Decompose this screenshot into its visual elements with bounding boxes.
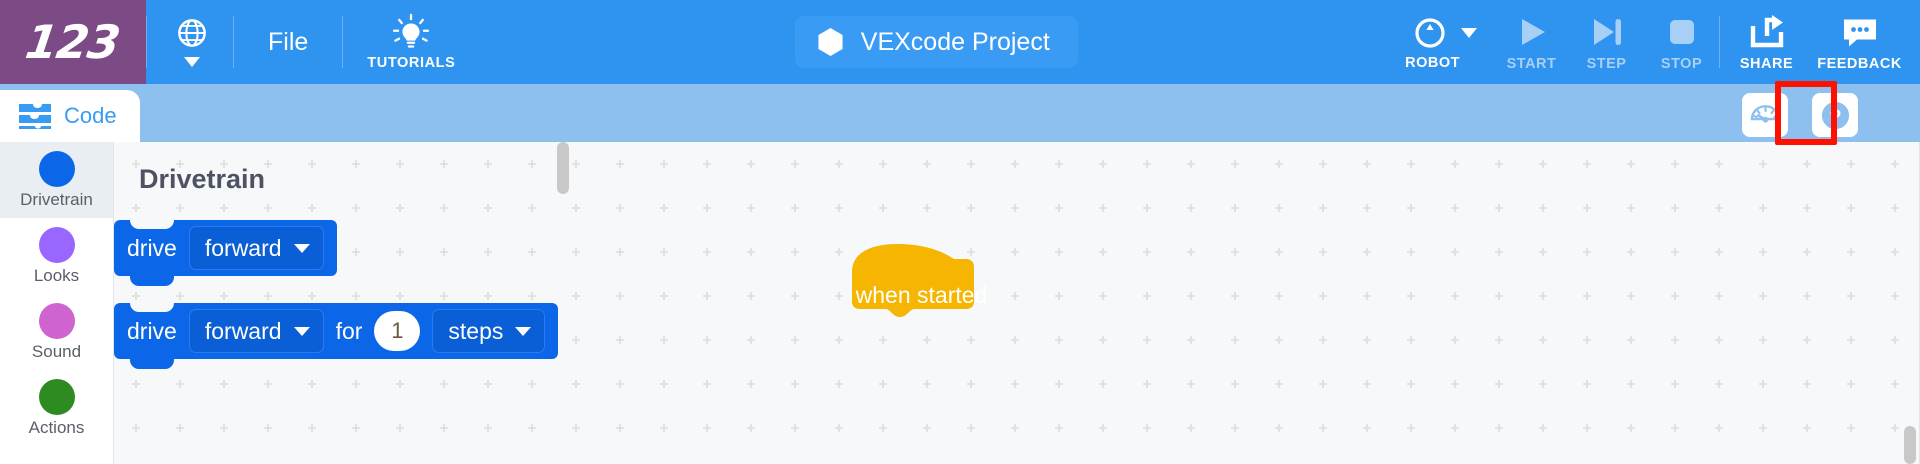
tutorials-button[interactable]: TUTORIALS (343, 0, 477, 84)
hexagon-icon (817, 27, 844, 57)
svg-text:?: ? (1829, 106, 1841, 128)
block-label: drive (127, 235, 177, 262)
tab-code[interactable]: Code (0, 90, 140, 142)
sidebar-item-label: Sound (32, 342, 81, 362)
sound-color-dot (39, 303, 75, 339)
dropdown-value: steps (448, 318, 503, 345)
stop-button[interactable]: STOP (1644, 12, 1719, 72)
block-notch (130, 359, 174, 369)
project-name-button[interactable]: VEXcode Project (795, 16, 1078, 68)
looks-color-dot (39, 227, 75, 263)
tab-code-label: Code (64, 103, 117, 129)
main-area: Drivetrain Looks Sound Actions Drivetrai… (0, 142, 1920, 464)
block-label-for: for (336, 318, 363, 345)
sidebar-item-sound[interactable]: Sound (0, 294, 113, 370)
start-label: START (1507, 56, 1557, 72)
globe-icon (177, 18, 207, 48)
dashboard-gauge-icon[interactable] (1742, 93, 1788, 137)
direction-dropdown[interactable]: forward (189, 309, 324, 353)
chevron-down-icon (184, 57, 200, 67)
app-logo-text: 123 (23, 15, 124, 69)
sidebar-item-label: Drivetrain (20, 190, 93, 210)
project-title: VEXcode Project (861, 28, 1050, 57)
robot-brain-icon (1411, 14, 1449, 52)
app-logo: 123 (0, 0, 146, 84)
tab-right-icon-group: ? (1742, 93, 1858, 137)
robot-label: ROBOT (1405, 55, 1460, 71)
tutorials-label: TUTORIALS (367, 55, 455, 71)
play-icon (1514, 12, 1550, 52)
chevron-down-icon (1461, 28, 1477, 38)
sidebar-item-label: Actions (29, 418, 85, 438)
block-notch (130, 302, 174, 312)
sidebar-item-looks[interactable]: Looks (0, 218, 113, 294)
workspace-scrollbar-thumb[interactable] (1904, 426, 1916, 464)
share-label: SHARE (1740, 56, 1793, 72)
step-label: STEP (1587, 56, 1627, 72)
sidebar-item-label: Looks (34, 266, 79, 286)
speech-bubble-icon (1841, 12, 1879, 52)
block-palette[interactable]: Drivetrain drive forward drive forward f… (113, 142, 685, 464)
chevron-down-icon (294, 244, 310, 253)
sidebar-item-actions[interactable]: Actions (0, 370, 113, 446)
category-sidebar: Drivetrain Looks Sound Actions (0, 142, 113, 464)
direction-dropdown[interactable]: forward (189, 226, 324, 270)
actions-color-dot (39, 379, 75, 415)
code-blocks-icon (17, 102, 53, 130)
block-notch (130, 219, 174, 229)
tab-bar: Code ? (0, 84, 1920, 142)
top-toolbar: 123 File (0, 0, 1920, 84)
units-dropdown[interactable]: steps (432, 309, 545, 353)
palette-block-drive-direction[interactable]: drive forward (114, 220, 337, 276)
share-button[interactable]: SHARE (1720, 12, 1813, 72)
drivetrain-color-dot (39, 151, 75, 187)
stop-label: STOP (1661, 56, 1702, 72)
step-button[interactable]: STEP (1569, 12, 1644, 72)
chevron-down-icon (515, 327, 531, 336)
step-forward-icon (1589, 12, 1625, 52)
feedback-label: FEEDBACK (1817, 56, 1902, 72)
palette-block-drive-for-steps[interactable]: drive forward for 1 steps (114, 303, 558, 359)
dropdown-value: forward (205, 318, 282, 345)
steps-number-input[interactable]: 1 (374, 311, 420, 351)
palette-scrollbar-thumb[interactable] (557, 142, 569, 194)
help-question-icon[interactable]: ? (1812, 93, 1858, 137)
language-menu[interactable] (147, 0, 233, 84)
palette-title: Drivetrain (139, 164, 265, 195)
feedback-button[interactable]: FEEDBACK (1813, 12, 1906, 72)
file-menu[interactable]: File (234, 0, 342, 84)
block-label: drive (127, 318, 177, 345)
stop-square-icon (1664, 12, 1700, 52)
share-export-icon (1748, 12, 1786, 52)
lightbulb-icon (390, 13, 432, 53)
chevron-down-icon (294, 327, 310, 336)
block-label: when started (852, 282, 991, 309)
block-notch (130, 276, 174, 286)
dropdown-value: forward (205, 235, 282, 262)
robot-icon-row (1411, 14, 1477, 52)
sidebar-item-drivetrain[interactable]: Drivetrain (0, 142, 113, 218)
robot-selector[interactable]: ROBOT (1395, 14, 1494, 71)
workspace-block-when-started[interactable]: when started (852, 242, 991, 317)
start-button[interactable]: START (1494, 12, 1569, 72)
